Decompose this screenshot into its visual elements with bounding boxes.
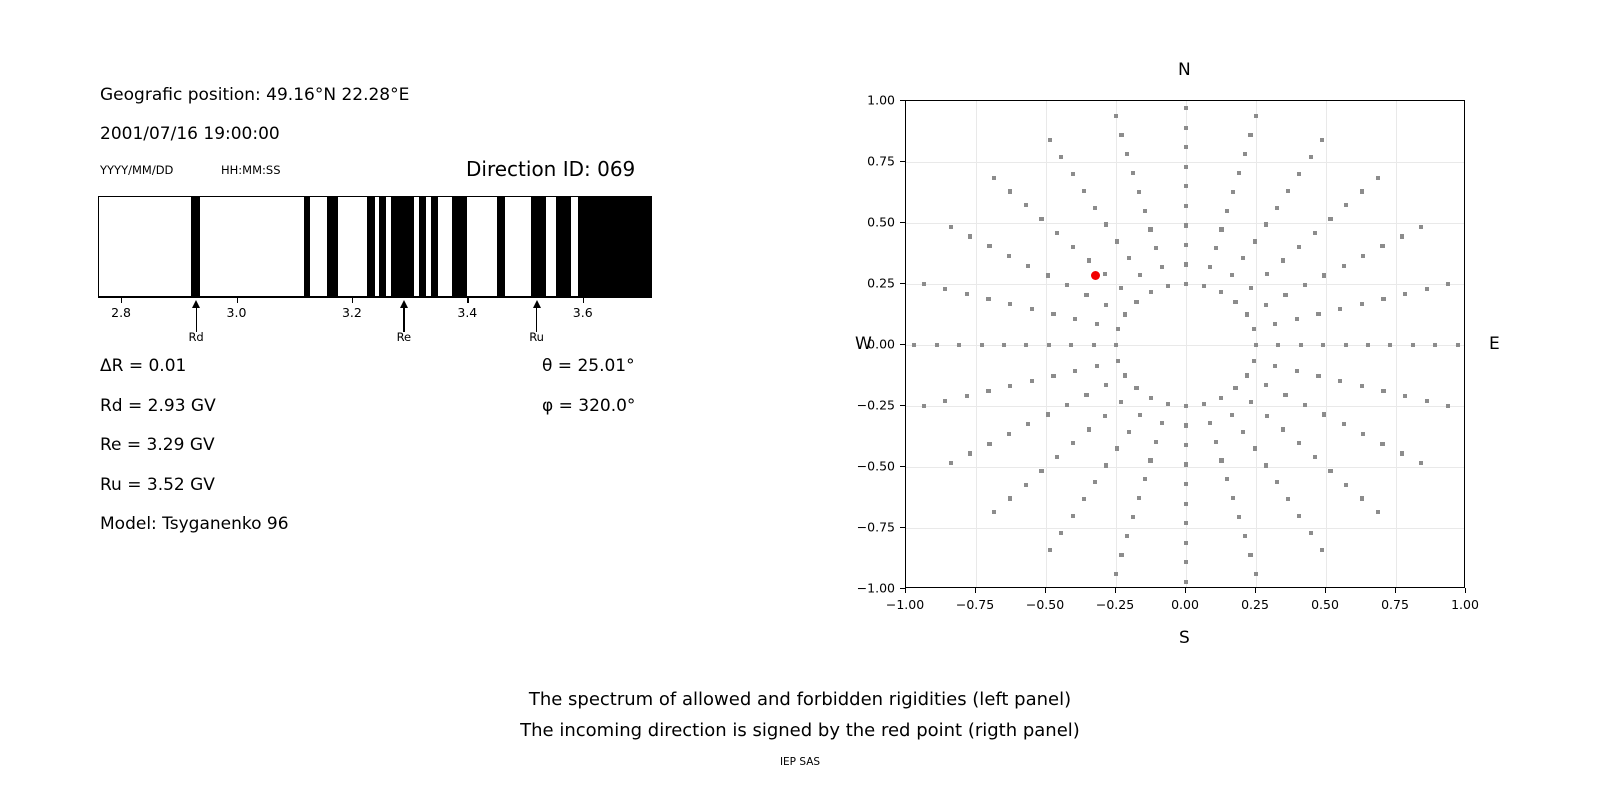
direction-point bbox=[1082, 497, 1086, 501]
direction-point bbox=[1065, 403, 1069, 407]
direction-point bbox=[1380, 244, 1384, 248]
direction-point bbox=[1425, 399, 1429, 403]
direction-point bbox=[1160, 265, 1164, 269]
direction-point bbox=[1254, 343, 1258, 347]
direction-point bbox=[922, 282, 926, 286]
direction-point bbox=[1131, 171, 1135, 175]
direction-point bbox=[1237, 171, 1241, 175]
direction-point bbox=[1149, 290, 1153, 294]
direction-point bbox=[1184, 126, 1188, 130]
direction-point bbox=[1265, 272, 1269, 276]
direction-point bbox=[1071, 172, 1075, 176]
direction-point bbox=[1055, 231, 1059, 235]
direction-point bbox=[1184, 423, 1188, 427]
direction-point bbox=[1281, 258, 1285, 262]
direction-point bbox=[1093, 206, 1097, 210]
direction-point bbox=[1316, 374, 1320, 378]
direction-point bbox=[1114, 572, 1118, 576]
direction-point bbox=[1073, 317, 1077, 321]
direction-point bbox=[1024, 343, 1028, 347]
direction-point bbox=[1245, 373, 1249, 377]
direction-point bbox=[943, 287, 947, 291]
direction-point bbox=[1344, 203, 1348, 207]
x-axis-tick bbox=[1115, 588, 1116, 593]
direction-point bbox=[1184, 541, 1188, 545]
direction-point bbox=[1419, 461, 1423, 465]
grid-line bbox=[906, 467, 1464, 468]
direction-point bbox=[1069, 343, 1073, 347]
y-axis-tick bbox=[900, 527, 905, 528]
direction-point bbox=[1160, 421, 1164, 425]
direction-point bbox=[1214, 246, 1218, 250]
direction-point bbox=[1184, 443, 1188, 447]
y-axis-tick-label: 0.25 bbox=[843, 276, 895, 291]
x-axis-tick bbox=[905, 588, 906, 593]
direction-id-label: Direction ID: 069 bbox=[466, 157, 635, 181]
grid-line bbox=[1186, 101, 1187, 587]
direction-point bbox=[1059, 155, 1063, 159]
y-axis-tick bbox=[900, 466, 905, 467]
y-axis-tick bbox=[900, 161, 905, 162]
direction-point bbox=[1119, 553, 1123, 557]
direction-point bbox=[922, 404, 926, 408]
direction-point bbox=[1273, 322, 1277, 326]
forbidden-band bbox=[379, 197, 387, 296]
axis-tick-label: 3.4 bbox=[457, 305, 477, 320]
direction-point bbox=[1127, 256, 1131, 260]
direction-point bbox=[1184, 502, 1188, 506]
forbidden-band bbox=[419, 197, 426, 296]
direction-point bbox=[1321, 343, 1325, 347]
direction-point bbox=[980, 343, 984, 347]
direction-point bbox=[1316, 312, 1320, 316]
parameter-value: Model: Tsyganenko 96 bbox=[100, 514, 289, 534]
direction-point bbox=[1249, 400, 1253, 404]
direction-point bbox=[1361, 432, 1365, 436]
direction-point bbox=[1248, 133, 1252, 137]
direction-point bbox=[1092, 343, 1096, 347]
direction-point bbox=[912, 343, 916, 347]
direction-point bbox=[1166, 284, 1170, 288]
direction-point bbox=[949, 225, 953, 229]
direction-point bbox=[1184, 223, 1188, 227]
direction-point bbox=[1344, 343, 1348, 347]
direction-point bbox=[935, 343, 939, 347]
direction-point bbox=[1309, 531, 1313, 535]
axis-tick bbox=[583, 297, 584, 303]
direction-point bbox=[1148, 227, 1152, 231]
x-axis-tick-label: 0.50 bbox=[1311, 597, 1339, 612]
direction-point bbox=[1202, 402, 1206, 406]
direction-point bbox=[1225, 477, 1229, 481]
direction-point bbox=[1376, 510, 1380, 514]
direction-point bbox=[1344, 483, 1348, 487]
direction-point bbox=[1342, 422, 1346, 426]
direction-point bbox=[1166, 402, 1170, 406]
direction-point bbox=[1184, 204, 1188, 208]
axis-tick-label: 3.0 bbox=[227, 305, 247, 320]
geographic-position-label: Geografic position: 49.16°N 22.28°E bbox=[100, 85, 409, 105]
direction-point bbox=[1184, 145, 1188, 149]
direction-point bbox=[1446, 404, 1450, 408]
grid-line bbox=[906, 528, 1464, 529]
direction-point bbox=[987, 244, 991, 248]
direction-point bbox=[1295, 317, 1299, 321]
datetime-label: 2001/07/16 19:00:00 bbox=[100, 124, 280, 144]
direction-point bbox=[1131, 515, 1135, 519]
direction-point bbox=[1254, 114, 1258, 118]
axis-tick-label: 3.6 bbox=[573, 305, 593, 320]
direction-point bbox=[992, 176, 996, 180]
direction-point bbox=[1400, 451, 1404, 455]
direction-point bbox=[1322, 273, 1326, 277]
direction-point bbox=[1219, 227, 1223, 231]
compass-north-label: N bbox=[1178, 60, 1191, 80]
direction-point bbox=[1233, 300, 1237, 304]
angle-parameter-value: θ = 25.01° bbox=[542, 356, 635, 376]
direction-point bbox=[1071, 245, 1075, 249]
y-axis-tick bbox=[900, 283, 905, 284]
direction-point bbox=[1071, 514, 1075, 518]
direction-scatter-plot bbox=[905, 100, 1465, 588]
figure-caption: The spectrum of allowed and forbidden ri… bbox=[0, 684, 1600, 746]
direction-point bbox=[1214, 440, 1218, 444]
direction-point bbox=[986, 389, 990, 393]
direction-point bbox=[1360, 496, 1364, 500]
direction-point bbox=[968, 234, 972, 238]
direction-map-panel: N S E W −1.00−0.75−0.50−0.250.000.250.50… bbox=[830, 40, 1530, 660]
direction-point bbox=[1008, 496, 1012, 500]
direction-point bbox=[1008, 302, 1012, 306]
direction-point bbox=[1116, 327, 1120, 331]
grid-line bbox=[1396, 101, 1397, 587]
direction-point bbox=[1138, 273, 1142, 277]
direction-point bbox=[1095, 364, 1099, 368]
direction-point bbox=[1388, 343, 1392, 347]
grid-line bbox=[1326, 101, 1327, 587]
direction-point bbox=[1008, 189, 1012, 193]
direction-point bbox=[1104, 222, 1108, 226]
direction-point bbox=[1154, 246, 1158, 250]
direction-point bbox=[1134, 386, 1138, 390]
direction-point bbox=[1338, 307, 1342, 311]
y-axis-tick-label: 0.00 bbox=[843, 337, 895, 352]
direction-point bbox=[1286, 497, 1290, 501]
direction-point bbox=[1366, 343, 1370, 347]
forbidden-band bbox=[304, 197, 310, 296]
direction-point bbox=[1095, 322, 1099, 326]
direction-point bbox=[1253, 239, 1257, 243]
direction-point bbox=[1297, 172, 1301, 176]
direction-point bbox=[1024, 203, 1028, 207]
direction-point bbox=[1184, 521, 1188, 525]
direction-point bbox=[1245, 312, 1249, 316]
rigidity-spectrum-panel: Geografic position: 49.16°N 22.28°E 2001… bbox=[0, 0, 760, 660]
y-axis-tick-label: 1.00 bbox=[843, 93, 895, 108]
direction-point bbox=[1048, 548, 1052, 552]
direction-point bbox=[1254, 572, 1258, 576]
direction-point bbox=[1303, 283, 1307, 287]
direction-point bbox=[1342, 264, 1346, 268]
direction-point bbox=[1008, 384, 1012, 388]
direction-point bbox=[1084, 393, 1088, 397]
direction-point bbox=[1184, 262, 1188, 266]
direction-point bbox=[1208, 421, 1212, 425]
forbidden-band bbox=[431, 197, 438, 296]
x-axis-tick-label: 1.00 bbox=[1451, 597, 1479, 612]
direction-point bbox=[1143, 209, 1147, 213]
direction-point bbox=[1125, 534, 1129, 538]
axis-tick bbox=[237, 297, 238, 303]
direction-point bbox=[1380, 442, 1384, 446]
direction-point bbox=[1275, 480, 1279, 484]
direction-point bbox=[1082, 189, 1086, 193]
caption-line-2: The incoming direction is signed by the … bbox=[0, 715, 1600, 746]
direction-point bbox=[1328, 469, 1332, 473]
direction-point bbox=[1309, 155, 1313, 159]
parameter-value: Rd = 2.93 GV bbox=[100, 396, 216, 416]
direction-point bbox=[1237, 515, 1241, 519]
y-axis-tick-label: −0.50 bbox=[843, 459, 895, 474]
y-axis-tick bbox=[900, 100, 905, 101]
direction-point bbox=[1184, 560, 1188, 564]
rigidity-marker-label: Re bbox=[397, 330, 412, 344]
y-axis-tick bbox=[900, 405, 905, 406]
rigidity-spectrum-chart bbox=[98, 196, 652, 297]
direction-point bbox=[1184, 243, 1188, 247]
direction-point bbox=[1154, 440, 1158, 444]
organization-label: IEP SAS bbox=[0, 756, 1600, 768]
direction-point bbox=[1119, 400, 1123, 404]
direction-point bbox=[1007, 432, 1011, 436]
direction-point bbox=[1230, 273, 1234, 277]
direction-point bbox=[1073, 369, 1077, 373]
rigidity-marker-label: Rd bbox=[188, 330, 203, 344]
y-axis-tick-label: −0.75 bbox=[843, 520, 895, 535]
grid-line bbox=[906, 162, 1464, 163]
direction-point bbox=[1059, 531, 1063, 535]
direction-point bbox=[1233, 386, 1237, 390]
direction-point bbox=[1403, 292, 1407, 296]
direction-point bbox=[1030, 307, 1034, 311]
direction-point bbox=[1184, 165, 1188, 169]
direction-point bbox=[1252, 359, 1256, 363]
grid-line bbox=[906, 345, 1464, 346]
rigidity-marker-label: Ru bbox=[529, 330, 544, 344]
direction-point bbox=[1249, 286, 1253, 290]
direction-point bbox=[1219, 396, 1223, 400]
direction-point bbox=[1024, 483, 1028, 487]
direction-point bbox=[1030, 379, 1034, 383]
arrow-shaft bbox=[196, 306, 197, 332]
direction-point bbox=[1320, 138, 1324, 142]
direction-point bbox=[1127, 430, 1131, 434]
direction-point bbox=[1087, 258, 1091, 262]
direction-point bbox=[1243, 534, 1247, 538]
direction-point bbox=[1184, 482, 1188, 486]
direction-point bbox=[1148, 458, 1152, 462]
direction-point bbox=[957, 343, 961, 347]
direction-point bbox=[1303, 403, 1307, 407]
x-axis-tick-label: −0.25 bbox=[1096, 597, 1134, 612]
direction-point bbox=[1184, 184, 1188, 188]
direction-point bbox=[1360, 189, 1364, 193]
x-axis-tick bbox=[1185, 588, 1186, 593]
direction-point bbox=[1046, 412, 1050, 416]
caption-line-1: The spectrum of allowed and forbidden ri… bbox=[0, 684, 1600, 715]
direction-point bbox=[1248, 553, 1252, 557]
direction-point bbox=[1119, 133, 1123, 137]
direction-point bbox=[1286, 189, 1290, 193]
direction-point bbox=[1376, 176, 1380, 180]
direction-point bbox=[1051, 312, 1055, 316]
direction-point bbox=[1026, 422, 1030, 426]
y-axis-tick bbox=[900, 344, 905, 345]
x-axis-tick-label: −0.50 bbox=[1026, 597, 1064, 612]
direction-point bbox=[1297, 514, 1301, 518]
direction-point bbox=[1184, 580, 1188, 584]
time-format-hint: HH:MM:SS bbox=[221, 163, 281, 177]
direction-point bbox=[1403, 394, 1407, 398]
direction-point bbox=[1264, 383, 1268, 387]
direction-point bbox=[1051, 374, 1055, 378]
direction-point bbox=[1184, 282, 1188, 286]
x-axis-tick-label: 0.75 bbox=[1381, 597, 1409, 612]
direction-point bbox=[1456, 343, 1460, 347]
direction-point bbox=[965, 292, 969, 296]
forbidden-band bbox=[578, 197, 652, 296]
axis-tick-label: 2.8 bbox=[111, 305, 131, 320]
direction-point bbox=[1125, 152, 1129, 156]
direction-point bbox=[1143, 477, 1147, 481]
direction-point bbox=[1446, 282, 1450, 286]
direction-point bbox=[1425, 287, 1429, 291]
direction-point bbox=[1219, 458, 1223, 462]
direction-point bbox=[1381, 297, 1385, 301]
direction-point bbox=[1047, 343, 1051, 347]
direction-point bbox=[1002, 343, 1006, 347]
x-axis-tick bbox=[1325, 588, 1326, 593]
y-axis-tick-label: 0.75 bbox=[843, 154, 895, 169]
direction-point bbox=[1360, 302, 1364, 306]
direction-point bbox=[1411, 343, 1415, 347]
forbidden-band bbox=[327, 197, 339, 296]
direction-point bbox=[1039, 469, 1043, 473]
rigidity-axis bbox=[98, 297, 652, 313]
forbidden-band bbox=[452, 197, 467, 296]
arrow-shaft bbox=[536, 306, 537, 332]
direction-point bbox=[1299, 343, 1303, 347]
forbidden-band bbox=[556, 197, 571, 296]
parameter-value: Re = 3.29 GV bbox=[100, 435, 215, 455]
direction-point bbox=[1264, 222, 1268, 226]
direction-point bbox=[992, 510, 996, 514]
direction-point bbox=[1208, 265, 1212, 269]
incoming-direction-point bbox=[1091, 271, 1100, 280]
direction-point bbox=[1243, 152, 1247, 156]
forbidden-band bbox=[531, 197, 546, 296]
axis-tick bbox=[121, 297, 122, 303]
direction-point bbox=[1116, 359, 1120, 363]
direction-point bbox=[1048, 138, 1052, 142]
arrow-shaft bbox=[403, 306, 404, 332]
direction-point bbox=[965, 394, 969, 398]
direction-point bbox=[1225, 209, 1229, 213]
direction-point bbox=[1114, 114, 1118, 118]
parameter-value: ΔR = 0.01 bbox=[100, 356, 186, 376]
direction-point bbox=[1253, 446, 1257, 450]
direction-point bbox=[1241, 256, 1245, 260]
direction-point bbox=[1071, 441, 1075, 445]
direction-point bbox=[1046, 273, 1050, 277]
direction-point bbox=[1313, 231, 1317, 235]
angle-parameter-value: φ = 320.0° bbox=[542, 396, 635, 416]
direction-point bbox=[943, 399, 947, 403]
direction-point bbox=[1184, 404, 1188, 408]
y-axis-tick bbox=[900, 222, 905, 223]
direction-point bbox=[1400, 234, 1404, 238]
direction-point bbox=[1231, 496, 1235, 500]
direction-point bbox=[1360, 384, 1364, 388]
direction-point bbox=[1084, 293, 1088, 297]
direction-point bbox=[1103, 272, 1107, 276]
date-format-hint: YYYY/MM/DD bbox=[100, 163, 173, 177]
direction-point bbox=[1273, 364, 1277, 368]
forbidden-band bbox=[367, 197, 375, 296]
direction-point bbox=[1265, 414, 1269, 418]
x-axis-tick-label: 0.25 bbox=[1241, 597, 1269, 612]
forbidden-band bbox=[497, 197, 506, 296]
direction-point bbox=[1184, 462, 1188, 466]
direction-point bbox=[987, 442, 991, 446]
axis-line bbox=[98, 297, 652, 298]
direction-point bbox=[1361, 254, 1365, 258]
direction-point bbox=[1039, 217, 1043, 221]
direction-point bbox=[1026, 264, 1030, 268]
direction-point bbox=[1322, 412, 1326, 416]
direction-point bbox=[1252, 327, 1256, 331]
direction-point bbox=[1104, 303, 1108, 307]
direction-point bbox=[1123, 312, 1127, 316]
direction-point bbox=[1433, 343, 1437, 347]
direction-point bbox=[1276, 343, 1280, 347]
x-axis-tick bbox=[1395, 588, 1396, 593]
direction-point bbox=[1281, 427, 1285, 431]
direction-point bbox=[1295, 369, 1299, 373]
direction-point bbox=[1320, 548, 1324, 552]
compass-east-label: E bbox=[1489, 334, 1500, 354]
compass-south-label: S bbox=[1179, 628, 1190, 648]
direction-point bbox=[1087, 427, 1091, 431]
direction-point bbox=[1007, 254, 1011, 258]
x-axis-tick-label: 0.00 bbox=[1171, 597, 1199, 612]
direction-point bbox=[1137, 190, 1141, 194]
direction-point bbox=[1275, 206, 1279, 210]
forbidden-band bbox=[191, 197, 200, 296]
x-axis-tick-label: −0.75 bbox=[956, 597, 994, 612]
x-axis-tick-label: −1.00 bbox=[886, 597, 924, 612]
direction-point bbox=[1137, 496, 1141, 500]
direction-point bbox=[968, 451, 972, 455]
direction-point bbox=[1283, 293, 1287, 297]
direction-point bbox=[1114, 343, 1118, 347]
direction-point bbox=[1093, 480, 1097, 484]
y-axis-tick-label: 0.50 bbox=[843, 215, 895, 230]
direction-point bbox=[1138, 413, 1142, 417]
direction-point bbox=[1264, 463, 1268, 467]
direction-point bbox=[1149, 396, 1153, 400]
direction-point bbox=[1313, 455, 1317, 459]
